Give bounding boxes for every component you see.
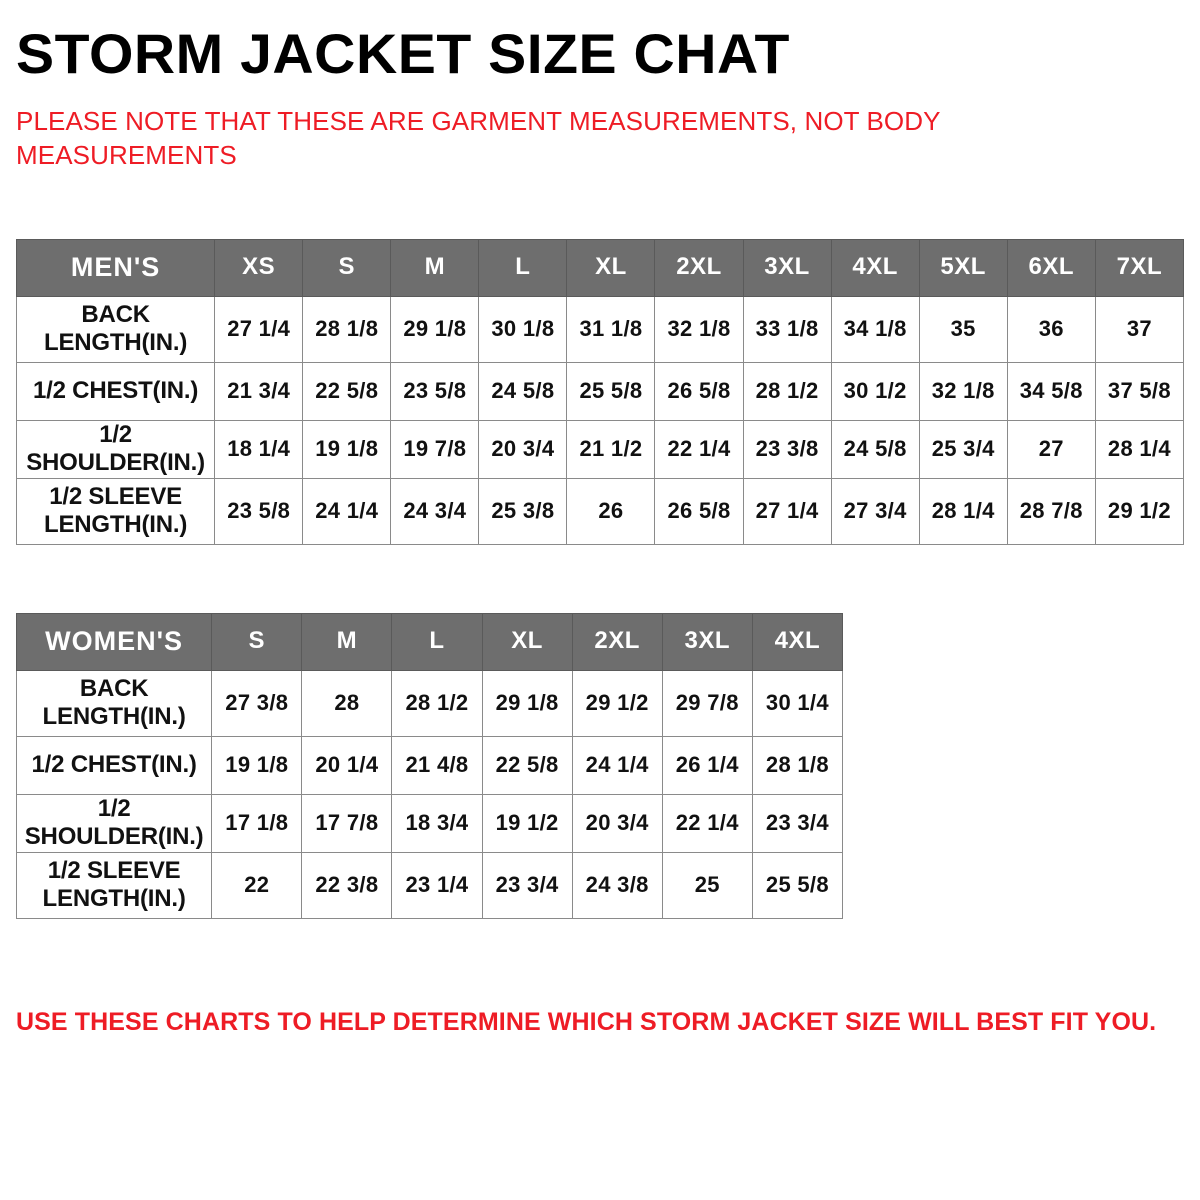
mens-half-chest-7xl: 37 5/8	[1095, 362, 1183, 420]
womens-half-sleeve-3xl: 25	[662, 852, 752, 918]
mens-half-shoulder-2xl: 22 1/4	[655, 420, 743, 478]
mens-half-chest-m: 23 5/8	[391, 362, 479, 420]
womens-row-label-back-length: BACK LENGTH(IN.)	[17, 670, 212, 736]
table-row: BACK LENGTH(IN.) 27 3/8 28 28 1/2 29 1/8…	[17, 670, 843, 736]
mens-size-header-xl: XL	[567, 239, 655, 296]
womens-half-chest-2xl: 24 1/4	[572, 736, 662, 794]
mens-back-length-3xl: 33 1/8	[743, 296, 831, 362]
mens-size-table: MEN'S XS S M L XL 2XL 3XL 4XL 5XL 6XL 7X…	[16, 239, 1184, 545]
womens-half-sleeve-4xl: 25 5/8	[752, 852, 842, 918]
mens-row-label-half-chest: 1/2 CHEST(IN.)	[17, 362, 215, 420]
womens-row-label-half-shoulder: 1/2 SHOULDER(IN.)	[17, 794, 212, 852]
mens-half-chest-5xl: 32 1/8	[919, 362, 1007, 420]
mens-half-sleeve-3xl: 27 1/4	[743, 478, 831, 544]
table-row: 1/2 SHOULDER(IN.) 17 1/8 17 7/8 18 3/4 1…	[17, 794, 843, 852]
mens-half-sleeve-7xl: 29 1/2	[1095, 478, 1183, 544]
mens-half-sleeve-m: 24 3/4	[391, 478, 479, 544]
mens-half-chest-l: 24 5/8	[479, 362, 567, 420]
womens-row-label-half-sleeve-length: 1/2 SLEEVE LENGTH(IN.)	[17, 852, 212, 918]
mens-group-label: MEN'S	[17, 239, 215, 296]
womens-half-shoulder-4xl: 23 3/4	[752, 794, 842, 852]
row-label-line-2: LENGTH(IN.)	[21, 703, 207, 731]
mens-half-shoulder-5xl: 25 3/4	[919, 420, 1007, 478]
mens-table-body: BACK LENGTH(IN.) 27 1/4 28 1/8 29 1/8 30…	[17, 296, 1184, 544]
womens-size-header-s: S	[212, 613, 302, 670]
table-row: BACK LENGTH(IN.) 27 1/4 28 1/8 29 1/8 30…	[17, 296, 1184, 362]
mens-half-shoulder-s: 19 1/8	[303, 420, 391, 478]
mens-half-chest-xl: 25 5/8	[567, 362, 655, 420]
mens-back-length-xs: 27 1/4	[215, 296, 303, 362]
womens-half-sleeve-2xl: 24 3/8	[572, 852, 662, 918]
table-row: 1/2 SLEEVE LENGTH(IN.) 23 5/8 24 1/4 24 …	[17, 478, 1184, 544]
mens-back-length-5xl: 35	[919, 296, 1007, 362]
garment-measurement-note: PLEASE NOTE THAT THESE ARE GARMENT MEASU…	[16, 82, 1006, 173]
mens-half-shoulder-xl: 21 1/2	[567, 420, 655, 478]
mens-back-length-xl: 31 1/8	[567, 296, 655, 362]
mens-header-row: MEN'S XS S M L XL 2XL 3XL 4XL 5XL 6XL 7X…	[17, 239, 1184, 296]
table-row: 1/2 CHEST(IN.) 21 3/4 22 5/8 23 5/8 24 5…	[17, 362, 1184, 420]
mens-half-sleeve-l: 25 3/8	[479, 478, 567, 544]
mens-half-sleeve-6xl: 28 7/8	[1007, 478, 1095, 544]
mens-half-chest-4xl: 30 1/2	[831, 362, 919, 420]
womens-half-chest-xl: 22 5/8	[482, 736, 572, 794]
page-title: STORM JACKET SIZE CHAT	[16, 0, 1200, 82]
mens-half-chest-3xl: 28 1/2	[743, 362, 831, 420]
mens-size-header-s: S	[303, 239, 391, 296]
mens-half-shoulder-xs: 18 1/4	[215, 420, 303, 478]
mens-size-header-3xl: 3XL	[743, 239, 831, 296]
mens-half-shoulder-3xl: 23 3/8	[743, 420, 831, 478]
womens-half-chest-m: 20 1/4	[302, 736, 392, 794]
mens-half-chest-6xl: 34 5/8	[1007, 362, 1095, 420]
row-label-line-1: 1/2 SLEEVE	[21, 483, 210, 511]
mens-half-shoulder-7xl: 28 1/4	[1095, 420, 1183, 478]
size-chart-page: STORM JACKET SIZE CHAT PLEASE NOTE THAT …	[0, 0, 1200, 1200]
womens-half-chest-s: 19 1/8	[212, 736, 302, 794]
mens-half-shoulder-m: 19 7/8	[391, 420, 479, 478]
womens-size-header-3xl: 3XL	[662, 613, 752, 670]
womens-table-body: BACK LENGTH(IN.) 27 3/8 28 28 1/2 29 1/8…	[17, 670, 843, 918]
mens-half-shoulder-4xl: 24 5/8	[831, 420, 919, 478]
womens-size-header-l: L	[392, 613, 482, 670]
mens-half-shoulder-l: 20 3/4	[479, 420, 567, 478]
mens-table-head: MEN'S XS S M L XL 2XL 3XL 4XL 5XL 6XL 7X…	[17, 239, 1184, 296]
womens-back-length-3xl: 29 7/8	[662, 670, 752, 736]
mens-half-sleeve-2xl: 26 5/8	[655, 478, 743, 544]
mens-half-chest-s: 22 5/8	[303, 362, 391, 420]
row-label-line-2: LENGTH(IN.)	[21, 885, 207, 913]
womens-row-label-half-chest: 1/2 CHEST(IN.)	[17, 736, 212, 794]
womens-half-chest-3xl: 26 1/4	[662, 736, 752, 794]
womens-back-length-2xl: 29 1/2	[572, 670, 662, 736]
womens-half-shoulder-3xl: 22 1/4	[662, 794, 752, 852]
mens-half-sleeve-4xl: 27 3/4	[831, 478, 919, 544]
womens-half-chest-l: 21 4/8	[392, 736, 482, 794]
mens-half-chest-xs: 21 3/4	[215, 362, 303, 420]
mens-back-length-s: 28 1/8	[303, 296, 391, 362]
row-label-line-2: LENGTH(IN.)	[21, 329, 210, 357]
table-row: 1/2 SHOULDER(IN.) 18 1/4 19 1/8 19 7/8 2…	[17, 420, 1184, 478]
womens-half-shoulder-xl: 19 1/2	[482, 794, 572, 852]
mens-back-length-7xl: 37	[1095, 296, 1183, 362]
row-label-line-1: BACK	[21, 675, 207, 703]
mens-size-header-5xl: 5XL	[919, 239, 1007, 296]
womens-size-header-4xl: 4XL	[752, 613, 842, 670]
womens-half-shoulder-l: 18 3/4	[392, 794, 482, 852]
womens-back-length-m: 28	[302, 670, 392, 736]
womens-back-length-s: 27 3/8	[212, 670, 302, 736]
womens-half-sleeve-xl: 23 3/4	[482, 852, 572, 918]
mens-half-shoulder-6xl: 27	[1007, 420, 1095, 478]
mens-row-label-half-shoulder: 1/2 SHOULDER(IN.)	[17, 420, 215, 478]
mens-size-header-6xl: 6XL	[1007, 239, 1095, 296]
mens-size-header-m: M	[391, 239, 479, 296]
womens-half-sleeve-s: 22	[212, 852, 302, 918]
womens-half-sleeve-l: 23 1/4	[392, 852, 482, 918]
mens-row-label-back-length: BACK LENGTH(IN.)	[17, 296, 215, 362]
mens-size-header-xs: XS	[215, 239, 303, 296]
womens-half-shoulder-m: 17 7/8	[302, 794, 392, 852]
womens-half-chest-4xl: 28 1/8	[752, 736, 842, 794]
size-help-note: USE THESE CHARTS TO HELP DETERMINE WHICH…	[16, 1007, 1184, 1037]
row-label-line-1: 1/2 SLEEVE	[21, 857, 207, 885]
mens-back-length-l: 30 1/8	[479, 296, 567, 362]
womens-group-label: WOMEN'S	[17, 613, 212, 670]
mens-size-header-l: L	[479, 239, 567, 296]
bottom-note-wrapper: USE THESE CHARTS TO HELP DETERMINE WHICH…	[16, 1007, 1184, 1037]
womens-back-length-l: 28 1/2	[392, 670, 482, 736]
mens-back-length-2xl: 32 1/8	[655, 296, 743, 362]
womens-size-header-2xl: 2XL	[572, 613, 662, 670]
mens-size-header-2xl: 2XL	[655, 239, 743, 296]
mens-back-length-m: 29 1/8	[391, 296, 479, 362]
mens-half-sleeve-5xl: 28 1/4	[919, 478, 1007, 544]
womens-half-shoulder-s: 17 1/8	[212, 794, 302, 852]
womens-table-head: WOMEN'S S M L XL 2XL 3XL 4XL	[17, 613, 843, 670]
mens-half-sleeve-s: 24 1/4	[303, 478, 391, 544]
womens-size-header-xl: XL	[482, 613, 572, 670]
womens-header-row: WOMEN'S S M L XL 2XL 3XL 4XL	[17, 613, 843, 670]
mens-size-header-7xl: 7XL	[1095, 239, 1183, 296]
womens-size-header-m: M	[302, 613, 392, 670]
mens-back-length-6xl: 36	[1007, 296, 1095, 362]
row-label-line-1: BACK	[21, 301, 210, 329]
table-row: 1/2 CHEST(IN.) 19 1/8 20 1/4 21 4/8 22 5…	[17, 736, 843, 794]
mens-size-header-4xl: 4XL	[831, 239, 919, 296]
table-row: 1/2 SLEEVE LENGTH(IN.) 22 22 3/8 23 1/4 …	[17, 852, 843, 918]
womens-size-table: WOMEN'S S M L XL 2XL 3XL 4XL BACK LENGTH…	[16, 613, 843, 919]
womens-back-length-4xl: 30 1/4	[752, 670, 842, 736]
womens-half-sleeve-m: 22 3/8	[302, 852, 392, 918]
mens-half-sleeve-xs: 23 5/8	[215, 478, 303, 544]
womens-half-shoulder-2xl: 20 3/4	[572, 794, 662, 852]
row-label-line-2: LENGTH(IN.)	[21, 511, 210, 539]
mens-half-sleeve-xl: 26	[567, 478, 655, 544]
mens-row-label-half-sleeve-length: 1/2 SLEEVE LENGTH(IN.)	[17, 478, 215, 544]
mens-half-chest-2xl: 26 5/8	[655, 362, 743, 420]
mens-back-length-4xl: 34 1/8	[831, 296, 919, 362]
womens-back-length-xl: 29 1/8	[482, 670, 572, 736]
